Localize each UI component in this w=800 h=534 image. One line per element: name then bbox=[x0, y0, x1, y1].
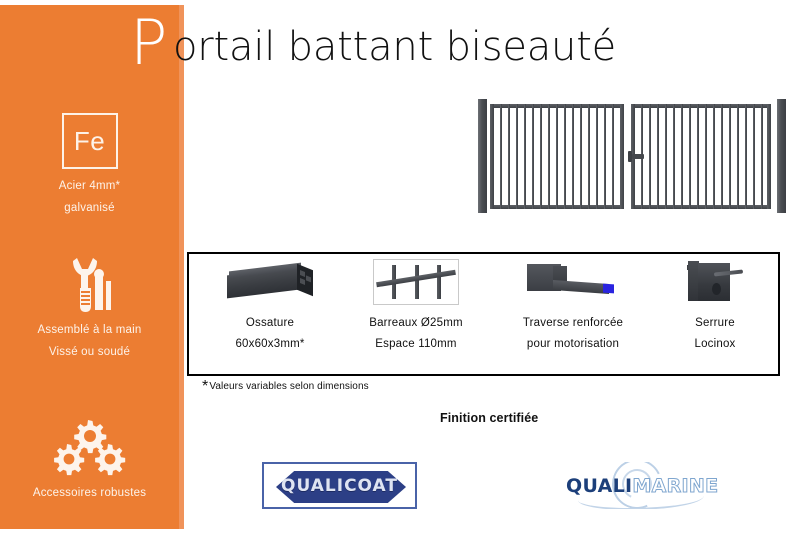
gate-stile-left-outer bbox=[490, 104, 494, 209]
finition-label: Finition certifiée bbox=[440, 411, 538, 425]
gate-bar bbox=[532, 104, 534, 209]
gate-bar bbox=[657, 104, 659, 209]
gate-bar bbox=[721, 104, 723, 209]
page-title: P ortail battant biseauté bbox=[131, 24, 616, 70]
gate-rail-bottom-right bbox=[631, 205, 771, 209]
gate-bar bbox=[508, 104, 510, 209]
footnote: *Valeurs variables selon dimensions bbox=[202, 381, 369, 392]
gate-bar bbox=[588, 104, 590, 209]
fe-symbol: Fe bbox=[74, 128, 105, 154]
gate-post-left bbox=[478, 99, 487, 213]
gate-bar bbox=[681, 104, 683, 209]
sidebar-item-acier: Fe Acier 4mm* galvanisé bbox=[0, 113, 179, 214]
qualimarine-logo: QUALIMARINE bbox=[560, 462, 720, 509]
component-barreaux-line1: Barreaux Ø25mm bbox=[341, 317, 491, 329]
gate-bar bbox=[665, 104, 667, 209]
component-serrure-line2: Locinox bbox=[655, 338, 775, 350]
gate-bar bbox=[713, 104, 715, 209]
component-ossature-line2: 60x60x3mm* bbox=[195, 338, 345, 350]
gate-bar bbox=[737, 104, 739, 209]
page-title-initial: P bbox=[130, 12, 167, 74]
sidebar-item-accessoires-label1: Accessoires robustes bbox=[0, 487, 179, 499]
component-traverse: Traverse renforcée pour motorisation bbox=[489, 254, 657, 350]
sidebar-edge-highlight bbox=[179, 5, 184, 529]
gate-bar bbox=[761, 104, 763, 209]
component-ossature: Ossature 60x60x3mm* bbox=[195, 254, 345, 350]
sidebar-item-assemblage: Assemblé à la main Vissé ou soudé bbox=[0, 255, 179, 358]
gate-bar bbox=[524, 104, 526, 209]
gate-bar bbox=[556, 104, 558, 209]
gate-bar bbox=[548, 104, 550, 209]
gate-bar bbox=[500, 104, 502, 209]
product-spec-sheet: Fe Acier 4mm* galvanisé bbox=[0, 0, 800, 534]
page-title-rest: ortail battant biseauté bbox=[173, 24, 616, 70]
gate-bar bbox=[580, 104, 582, 209]
gate-bar bbox=[673, 104, 675, 209]
gate-bar bbox=[572, 104, 574, 209]
sidebar-item-acier-label1: Acier 4mm* bbox=[0, 180, 179, 192]
wrench-tools-icon bbox=[0, 255, 179, 313]
gate-bar bbox=[612, 104, 614, 209]
gate-bar bbox=[564, 104, 566, 209]
gate-bar bbox=[753, 104, 755, 209]
gate-bar bbox=[729, 104, 731, 209]
gate-bar bbox=[689, 104, 691, 209]
gate-bar bbox=[697, 104, 699, 209]
gate-stile-left-inner bbox=[620, 104, 624, 209]
footnote-asterisk: * bbox=[202, 378, 208, 395]
sidebar-item-acier-label2: galvanisé bbox=[0, 202, 179, 214]
sidebar-item-accessoires: Accessoires robustes bbox=[0, 418, 179, 499]
gate-bar bbox=[596, 104, 598, 209]
qualimarine-text: QUALIMARINE bbox=[566, 475, 718, 497]
fe-element-box-icon: Fe bbox=[62, 113, 118, 169]
component-serrure: Serrure Locinox bbox=[655, 254, 775, 350]
gate-bar bbox=[540, 104, 542, 209]
footnote-text: Valeurs variables selon dimensions bbox=[209, 381, 368, 392]
component-traverse-line2: pour motorisation bbox=[489, 338, 657, 350]
gate-bar bbox=[745, 104, 747, 209]
qualimarine-text-marine: MARINE bbox=[632, 475, 718, 497]
component-traverse-line1: Traverse renforcée bbox=[489, 317, 657, 329]
gate-rail-top-right bbox=[631, 104, 771, 108]
lock-icon bbox=[655, 254, 775, 310]
component-serrure-line1: Serrure bbox=[655, 317, 775, 329]
qualicoat-text: QUALICOAT bbox=[281, 476, 398, 496]
steel-tube-profile-icon bbox=[195, 254, 345, 310]
gate-leaf-right bbox=[631, 104, 771, 209]
reinforced-crossbar-motor-icon bbox=[489, 254, 657, 310]
qualimarine-text-quali: QUALI bbox=[566, 475, 632, 497]
gate-bar bbox=[604, 104, 606, 209]
gate-stile-right-outer bbox=[767, 104, 771, 209]
double-swing-gate-illustration bbox=[478, 99, 786, 213]
qualicoat-logo: QUALICOAT bbox=[262, 462, 417, 509]
components-box: Ossature 60x60x3mm* Barreaux Ø25mm Espac… bbox=[187, 252, 780, 376]
gate-bar bbox=[705, 104, 707, 209]
component-barreaux: Barreaux Ø25mm Espace 110mm bbox=[341, 254, 491, 350]
gate-leaf-left bbox=[490, 104, 624, 209]
gate-post-right bbox=[777, 99, 786, 213]
gate-bar bbox=[516, 104, 518, 209]
gate-bar bbox=[649, 104, 651, 209]
sidebar-item-assemblage-label2: Vissé ou soudé bbox=[0, 346, 179, 358]
component-ossature-line1: Ossature bbox=[195, 317, 345, 329]
gate-handle bbox=[632, 154, 644, 159]
gears-icon bbox=[0, 418, 179, 476]
component-barreaux-line2: Espace 110mm bbox=[341, 338, 491, 350]
sidebar-item-assemblage-label1: Assemblé à la main bbox=[0, 324, 179, 336]
bars-spacing-icon bbox=[341, 254, 491, 310]
